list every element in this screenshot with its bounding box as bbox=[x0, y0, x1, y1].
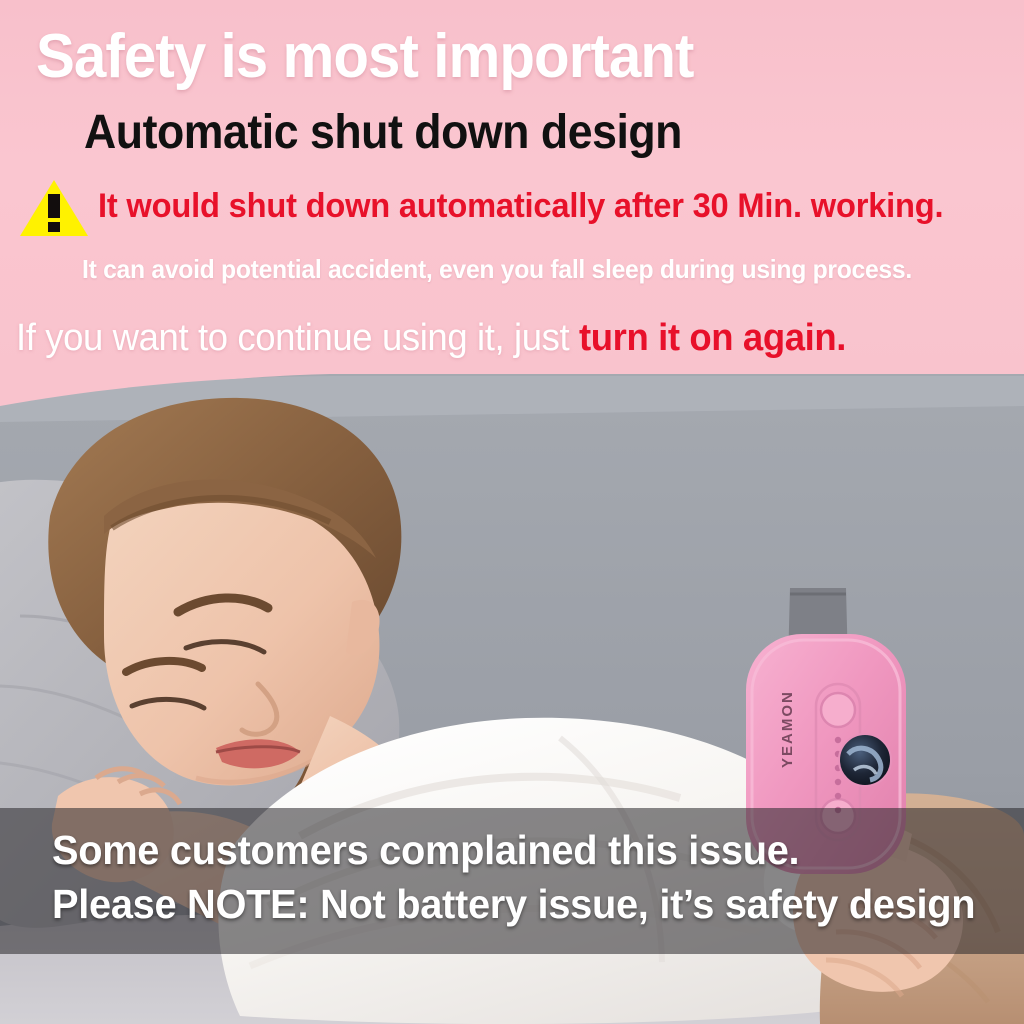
banner-line-2: Please NOTE: Not battery issue, it’s saf… bbox=[52, 882, 1003, 926]
warning-row: It would shut down automatically after 3… bbox=[18, 178, 1018, 240]
warning-triangle-icon bbox=[18, 178, 90, 238]
header-continue-line: If you want to continue using it, just t… bbox=[16, 316, 986, 360]
continue-line-white: If you want to continue using it, just bbox=[16, 317, 579, 359]
warning-text: It would shut down automatically after 3… bbox=[98, 186, 943, 226]
page-subtitle: Automatic shut down design bbox=[84, 108, 958, 158]
page-title: Safety is most important bbox=[36, 26, 938, 88]
header-note-line: It can avoid potential accident, even yo… bbox=[82, 254, 985, 284]
header-panel: Safety is most important Automatic shut … bbox=[0, 0, 1024, 375]
banner-line-1: Some customers complained this issue. bbox=[52, 828, 1003, 872]
product-marketing-image: Safety is most important Automatic shut … bbox=[0, 0, 1024, 1024]
device-brand-label: YEAMON bbox=[779, 690, 796, 768]
continue-line-red: turn it on again. bbox=[579, 317, 846, 359]
